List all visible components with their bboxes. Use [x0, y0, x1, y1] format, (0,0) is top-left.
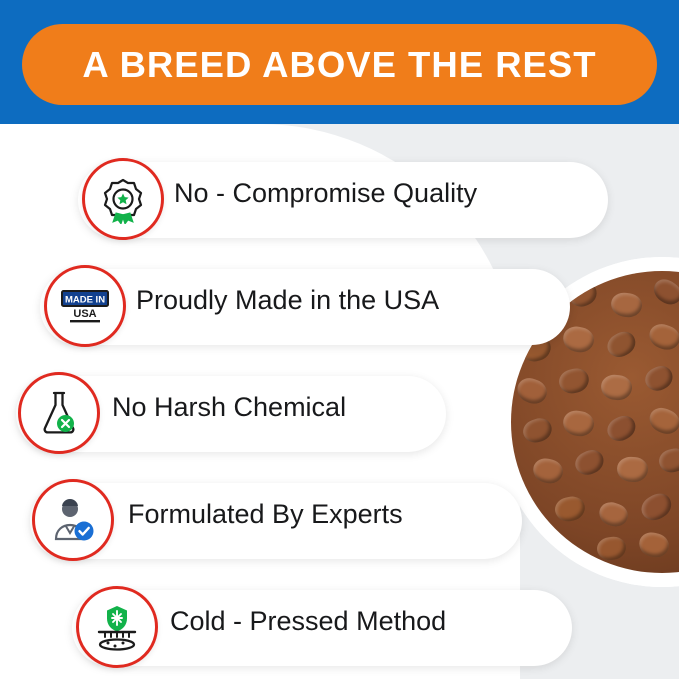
feature-label: No - Compromise Quality — [174, 178, 477, 209]
header-pill: A BREED ABOVE THE REST — [22, 24, 657, 105]
svg-text:MADE IN: MADE IN — [65, 295, 105, 306]
feature-row-no-harsh-chemical[interactable]: No Harsh Chemical — [0, 364, 679, 471]
feature-badge: MADE IN USA — [44, 265, 126, 347]
feature-label: Formulated By Experts — [128, 499, 403, 530]
quality-badge-icon — [98, 174, 148, 224]
product-feature-poster: A BREED ABOVE THE REST — [0, 0, 679, 679]
feature-label: Proudly Made in the USA — [136, 285, 439, 316]
feature-badge — [32, 479, 114, 561]
expert-vet-icon — [47, 494, 99, 546]
feature-badge — [82, 158, 164, 240]
cold-pressed-icon — [91, 601, 143, 653]
made-in-usa-icon: MADE IN USA — [58, 281, 112, 331]
page-title: A BREED ABOVE THE REST — [82, 44, 596, 86]
feature-list: No - Compromise Quality MADE IN USA Prou… — [0, 150, 679, 679]
feature-row-formulated-by-experts[interactable]: Formulated By Experts — [0, 471, 679, 578]
feature-label: Cold - Pressed Method — [170, 606, 446, 637]
feature-label: No Harsh Chemical — [112, 392, 346, 423]
feature-badge — [76, 586, 158, 668]
feature-row-quality[interactable]: No - Compromise Quality — [0, 150, 679, 257]
feature-row-cold-pressed[interactable]: Cold - Pressed Method — [0, 578, 679, 679]
svg-text:USA: USA — [73, 308, 96, 320]
feature-badge — [18, 372, 100, 454]
no-chemicals-flask-icon — [34, 387, 84, 439]
feature-row-made-in-usa[interactable]: MADE IN USA Proudly Made in the USA — [0, 257, 679, 364]
